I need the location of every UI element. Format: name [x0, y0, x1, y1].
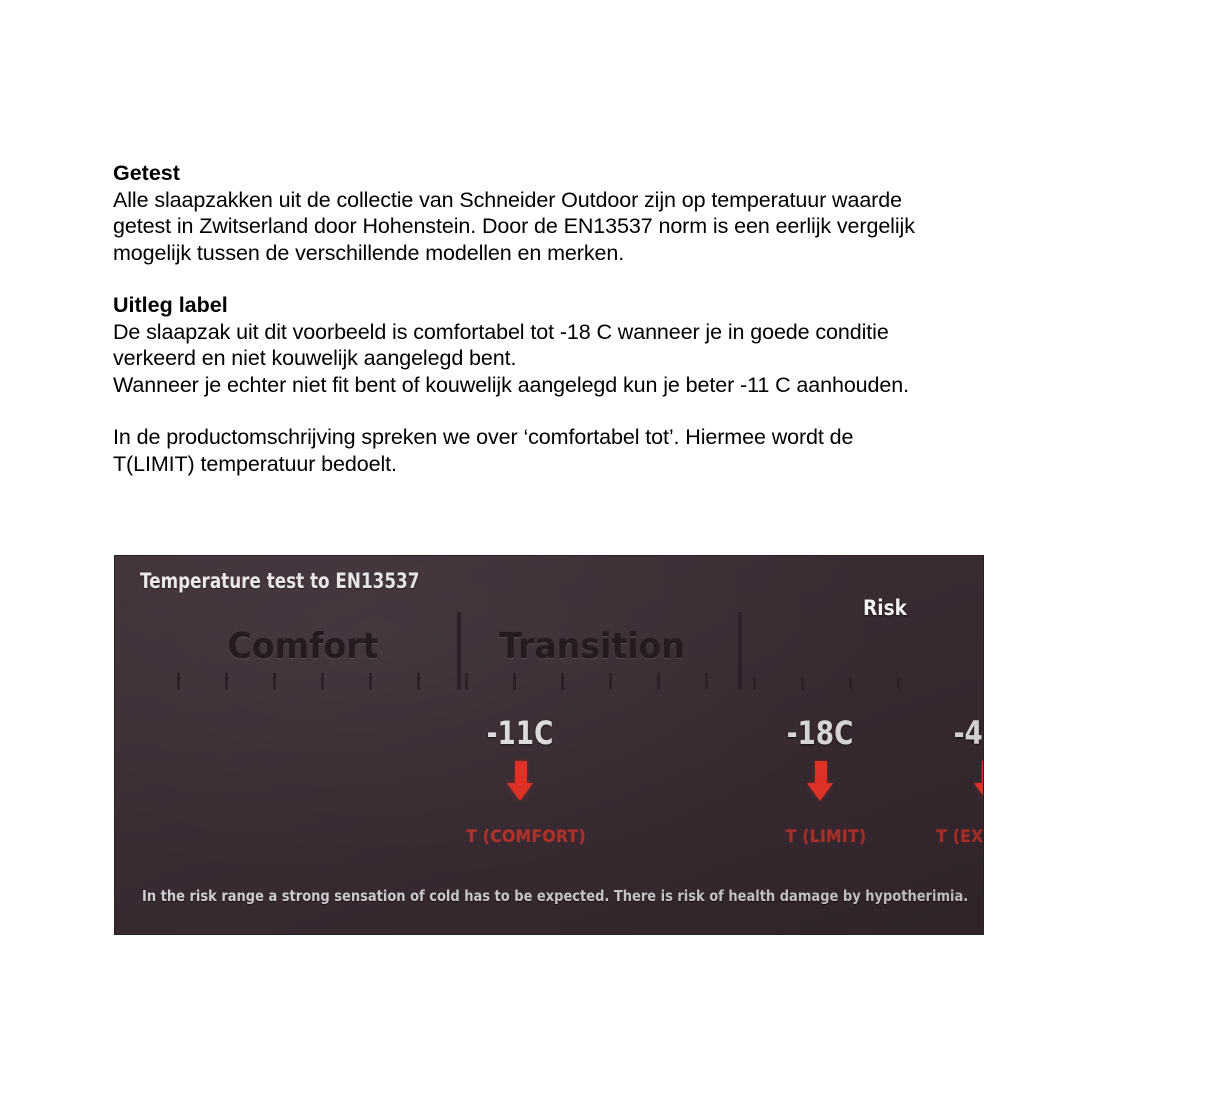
- section-heading-uitleg-label: Uitleg label: [113, 292, 993, 319]
- paragraph-line: In de productomschrijving spreken we ove…: [113, 424, 993, 451]
- tick-mark: [561, 673, 564, 690]
- document-body: Getest Alle slaapzakken uit de collectie…: [113, 160, 993, 477]
- paragraph-line: mogelijk tussen de verschillende modelle…: [113, 240, 993, 267]
- label-title: Temperature test to EN13537: [140, 569, 419, 593]
- en13537-label-image: Temperature test to EN13537 Comfort Tran…: [115, 556, 983, 934]
- band-label-transition: Transition: [499, 626, 685, 667]
- tick-mark: [849, 677, 852, 690]
- temperature-value-extreme: -40C: [938, 714, 983, 752]
- section-spacer: [113, 398, 993, 424]
- paragraph-line: De slaapzak uit dit voorbeeld is comfort…: [113, 319, 993, 346]
- arrow-shaft: [982, 761, 983, 783]
- tick-mark: [225, 673, 228, 690]
- arrow-down-icon-limit: [814, 761, 828, 801]
- marker-label-extreme: T (EXTREME): [910, 827, 983, 847]
- temperature-value-comfort: -11C: [471, 714, 569, 752]
- temperature-scale: Comfort Transition: [133, 612, 965, 690]
- arrow-down-icon-comfort: [514, 761, 528, 801]
- label-footnote: In the risk range a strong sensation of …: [142, 887, 968, 905]
- section-productomschrijving: In de productomschrijving spreken we ove…: [113, 424, 993, 477]
- band-label-comfort: Comfort: [228, 626, 379, 667]
- tick-mark: [369, 673, 372, 690]
- tick-mark: [177, 673, 180, 690]
- arrow-shaft: [815, 761, 827, 783]
- arrow-shaft: [515, 761, 527, 783]
- tick-mark: [465, 673, 468, 690]
- section-heading-getest: Getest: [113, 160, 993, 187]
- paragraph-line: getest in Zwitserland door Hohenstein. D…: [113, 213, 993, 240]
- arrow-head: [807, 783, 833, 801]
- tick-mark: [417, 673, 420, 690]
- tick-mark: [513, 673, 516, 690]
- paragraph-line: Alle slaapzakken uit de collectie van Sc…: [113, 187, 993, 214]
- marker-label-limit: T (LIMIT): [748, 827, 904, 847]
- paragraph-line: verkeerd en niet kouwelijk aangelegd ben…: [113, 345, 993, 372]
- tick-mark: [321, 673, 324, 690]
- tick-mark: [753, 677, 756, 690]
- tick-mark: [609, 673, 612, 690]
- marker-label-comfort: T (COMFORT): [448, 827, 604, 847]
- band-label-risk: Risk: [863, 596, 907, 620]
- arrow-head: [507, 783, 533, 801]
- tick-mark: [801, 677, 804, 690]
- temperature-value-limit: -18C: [771, 714, 869, 752]
- arrow-down-icon-extreme: [981, 761, 983, 801]
- tick-mark: [273, 673, 276, 690]
- paragraph-line: Wanneer je echter niet fit bent of kouwe…: [113, 372, 993, 399]
- tick-mark: [897, 677, 900, 690]
- paragraph-line: T(LIMIT) temperatuur bedoelt.: [113, 451, 993, 478]
- tick-mark: [705, 673, 708, 690]
- section-getest: Getest Alle slaapzakken uit de collectie…: [113, 160, 993, 266]
- section-spacer: [113, 266, 993, 292]
- tick-mark: [657, 673, 660, 690]
- section-uitleg-label: Uitleg label De slaapzak uit dit voorbee…: [113, 292, 993, 398]
- arrow-head: [974, 783, 983, 801]
